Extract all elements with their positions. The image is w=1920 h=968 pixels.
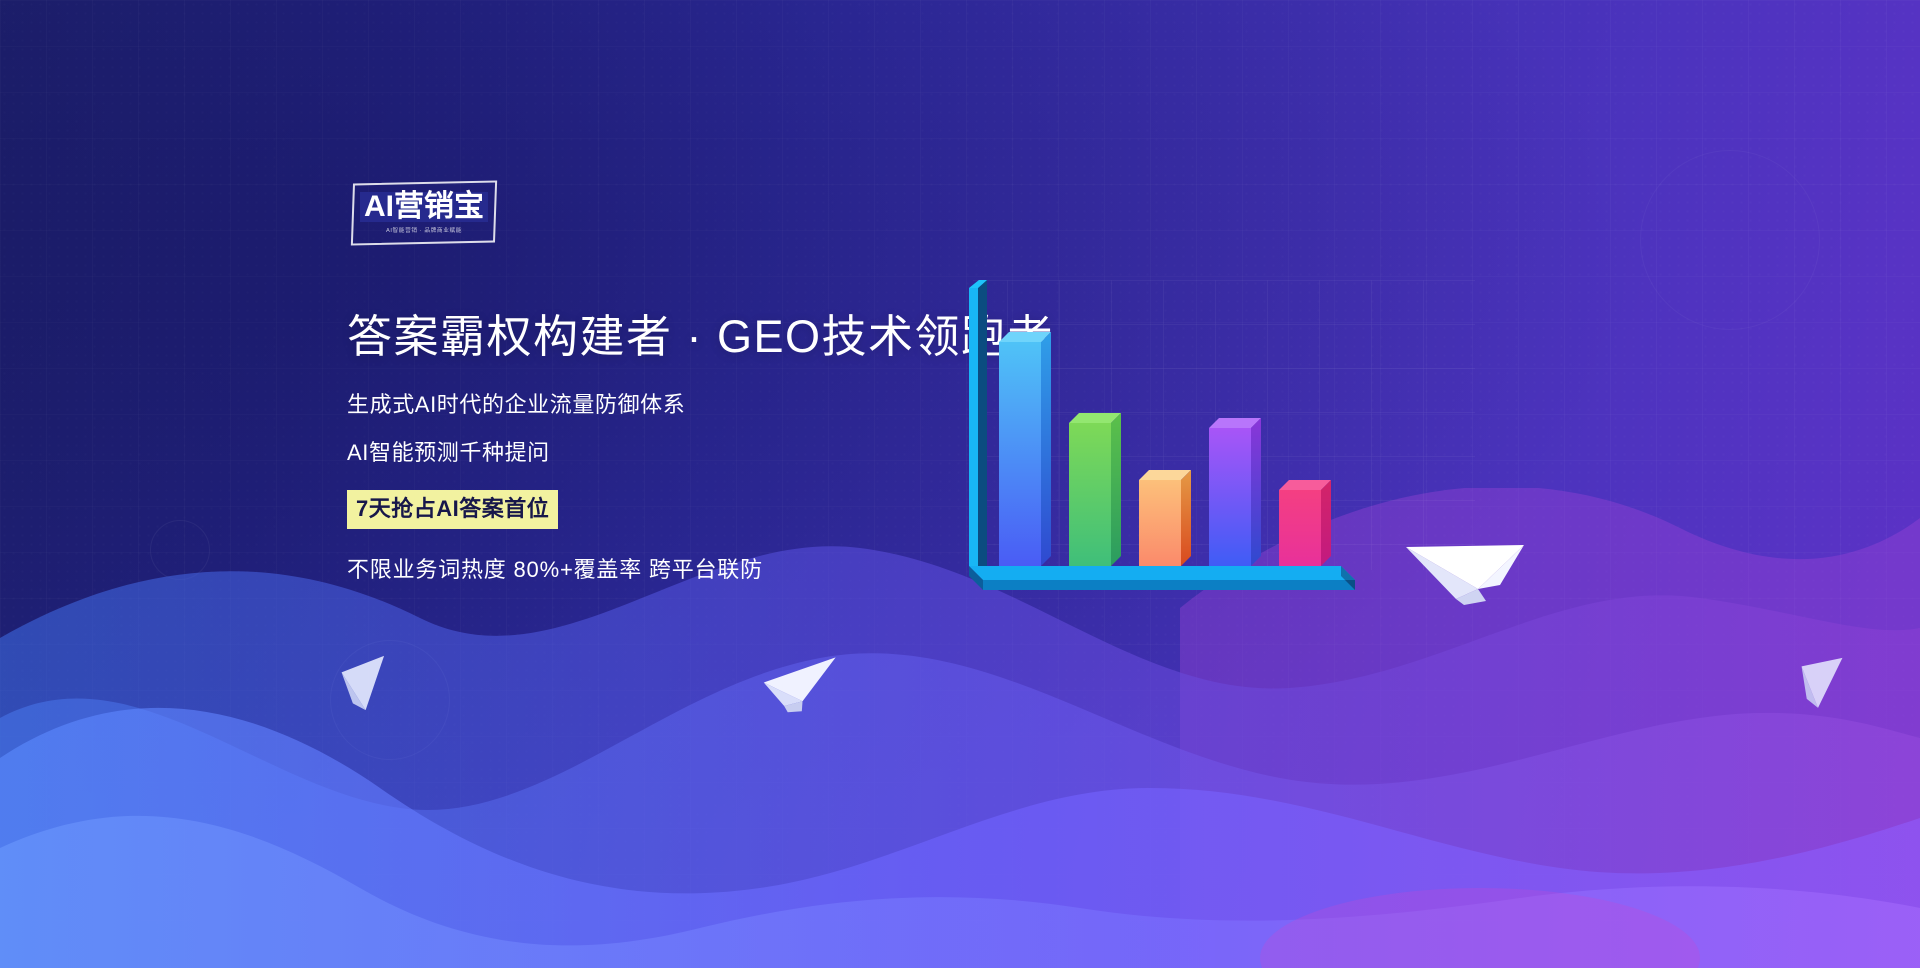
bar-1 xyxy=(999,332,1051,566)
logo-text: AI营销宝 xyxy=(360,192,488,222)
hero-subline-1: 生成式AI时代的企业流量防御体系 xyxy=(347,394,1047,416)
hero-subline-2: AI智能预测千种提问 xyxy=(347,442,1047,464)
chart-base xyxy=(969,566,1355,590)
brand-logo[interactable]: AI营销宝 AI智能营销 · 品牌商业赋能 xyxy=(352,182,496,244)
bar-2 xyxy=(1069,413,1121,566)
page-title: 答案霸权构建者 · GEO技术领跑者 xyxy=(347,310,1047,364)
logo-tagline: AI智能营销 · 品牌商业赋能 xyxy=(386,225,462,234)
bar-5 xyxy=(1279,480,1331,566)
paper-plane-icon xyxy=(332,647,399,723)
bar-chart-illustration xyxy=(955,280,1475,680)
bar-3 xyxy=(1139,470,1191,566)
paper-plane-icon xyxy=(1400,505,1530,610)
paper-plane-icon xyxy=(1787,648,1853,723)
hero-banner: AI营销宝 AI智能营销 · 品牌商业赋能 答案霸权构建者 · GEO技术领跑者… xyxy=(0,0,1920,968)
hero-subline-3: 不限业务词热度 80%+覆盖率 跨平台联防 xyxy=(347,559,1047,581)
hero-highlight-badge: 7天抢占AI答案首位 xyxy=(347,490,558,529)
chart-axis xyxy=(969,280,987,566)
hero-copy: 答案霸权构建者 · GEO技术领跑者 生成式AI时代的企业流量防御体系 AI智能… xyxy=(347,310,1047,581)
bar-4 xyxy=(1209,418,1261,566)
decorative-circle xyxy=(1640,150,1820,330)
paper-plane-icon xyxy=(758,642,843,717)
